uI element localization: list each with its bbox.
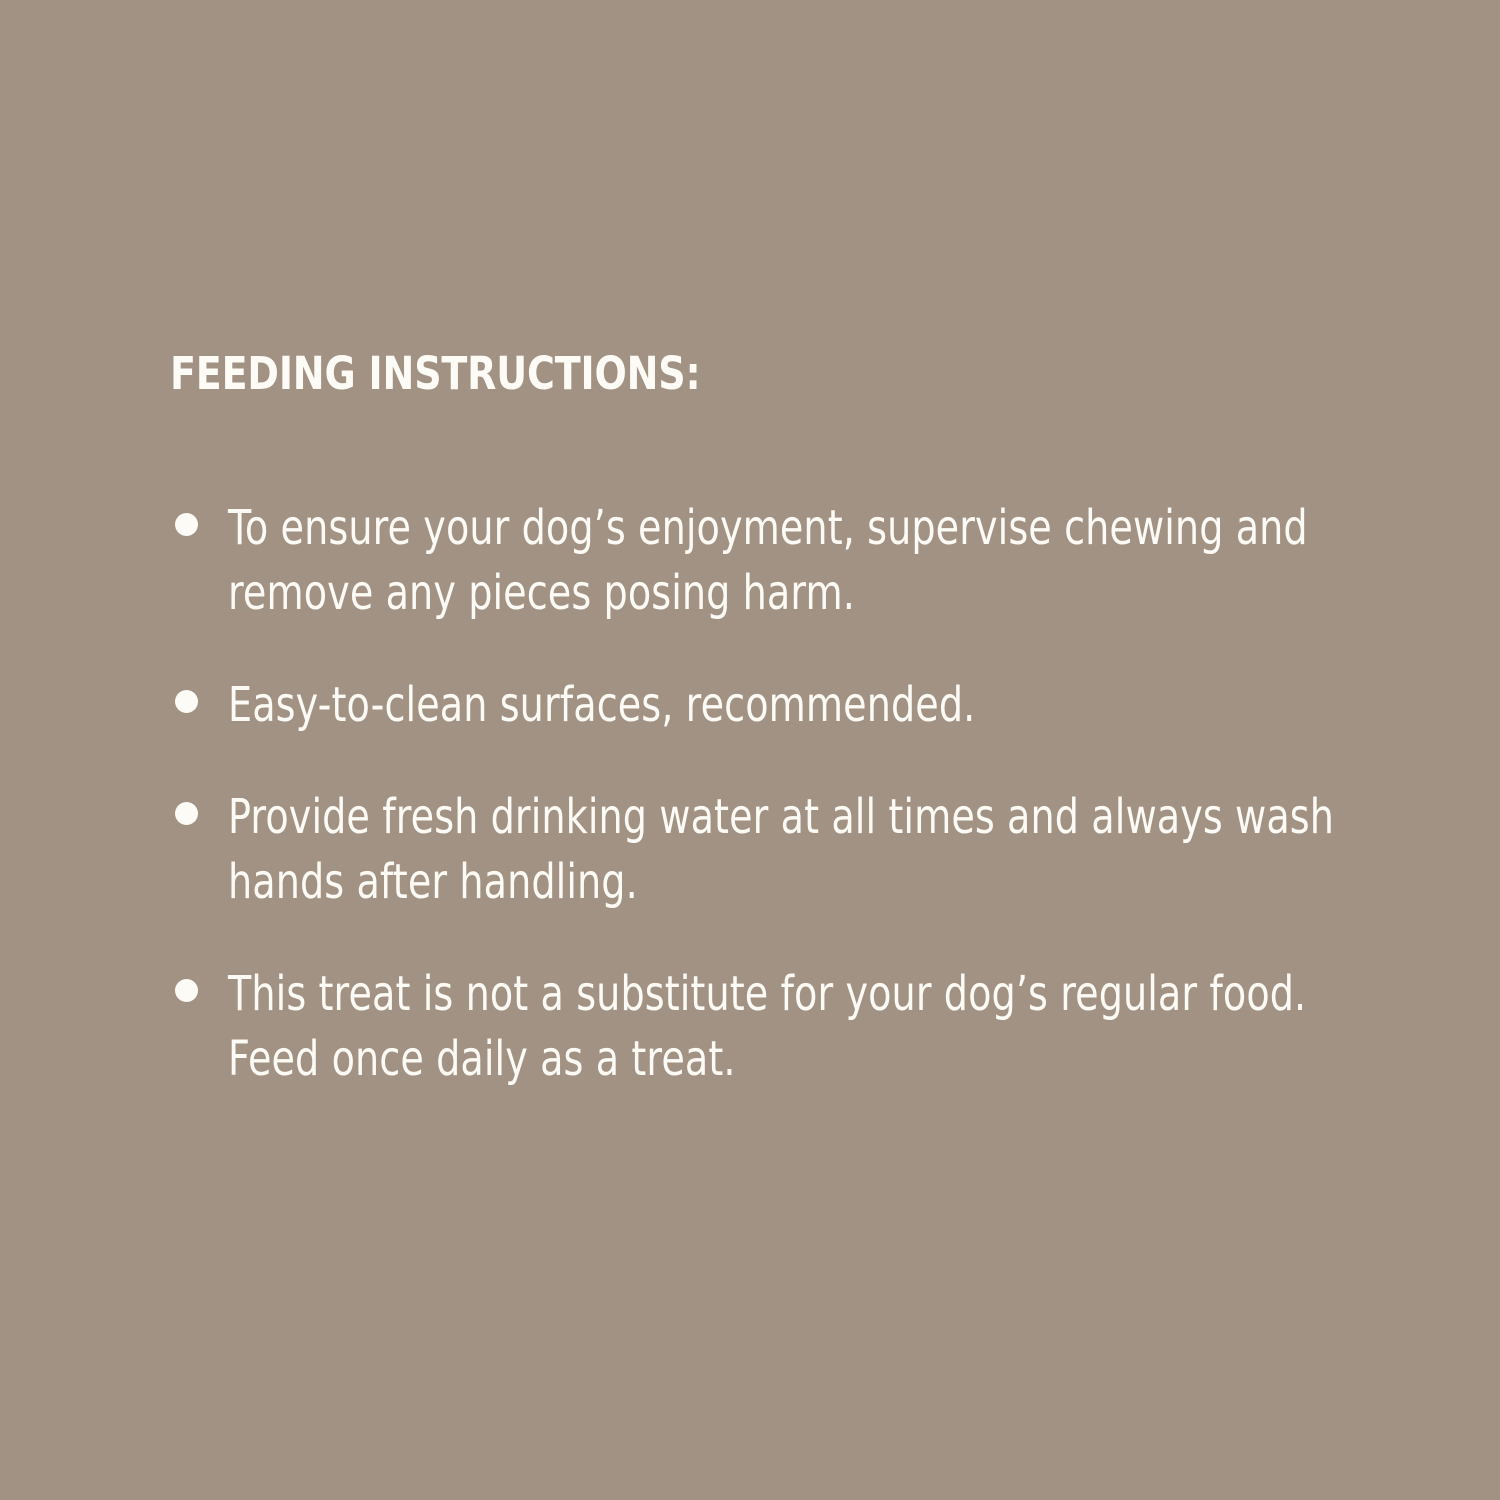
content-block: FEEDING INSTRUCTIONS: To ensure your dog… (170, 348, 1370, 1092)
list-item: Provide fresh drinking water at all time… (170, 785, 1370, 915)
list-item: Easy-to-clean surfaces, recommended. (170, 673, 1370, 738)
list-item: To ensure your dog’s enjoyment, supervis… (170, 496, 1370, 626)
filled-circle-bullet-icon (175, 690, 198, 713)
filled-circle-bullet-icon (175, 802, 198, 825)
feeding-instructions-list: To ensure your dog’s enjoyment, supervis… (170, 496, 1370, 1092)
filled-circle-bullet-icon (175, 979, 198, 1002)
list-item-label: Easy-to-clean surfaces, recommended. (228, 673, 1370, 738)
list-item: This treat is not a substitute for your … (170, 962, 1370, 1092)
feeding-instructions-panel: FEEDING INSTRUCTIONS: To ensure your dog… (0, 0, 1500, 1500)
page-title: FEEDING INSTRUCTIONS: (170, 348, 1184, 400)
filled-circle-bullet-icon (175, 513, 198, 536)
list-item-label: To ensure your dog’s enjoyment, supervis… (228, 496, 1370, 626)
list-item-label: Provide fresh drinking water at all time… (228, 785, 1370, 915)
list-item-label: This treat is not a substitute for your … (228, 962, 1370, 1092)
